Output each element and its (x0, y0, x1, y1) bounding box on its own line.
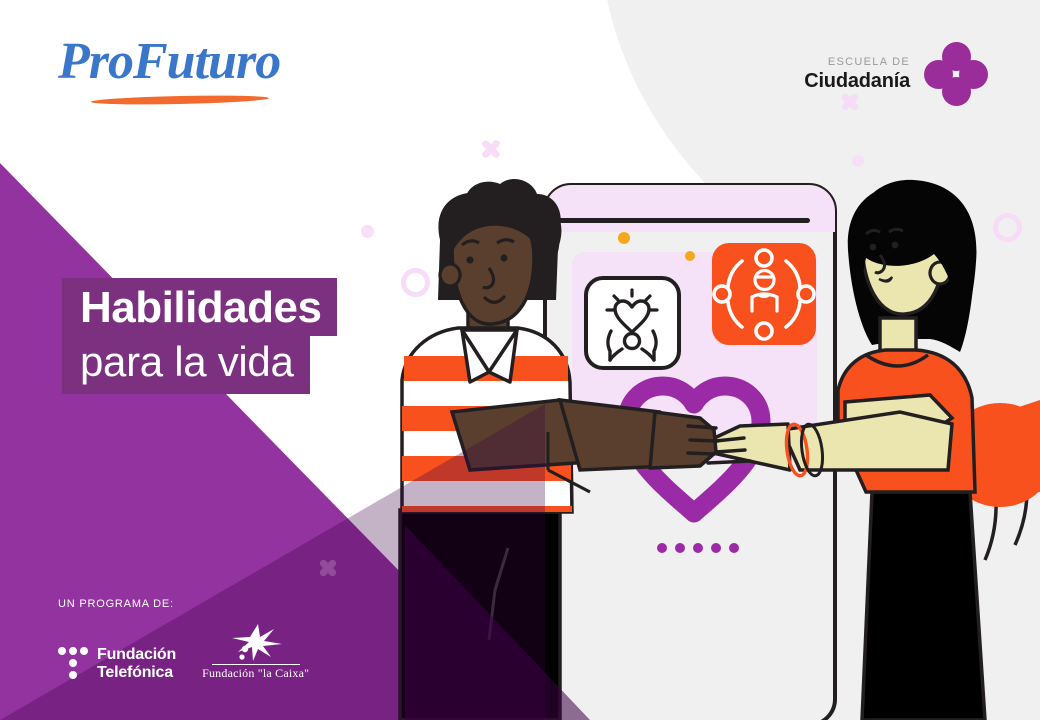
fundacion-telefonica-logo[interactable]: Fundación Telefónica (58, 646, 176, 681)
telefonica-dots-icon (58, 647, 88, 681)
telefonica-line2: Telefónica (97, 664, 176, 681)
poster-canvas: ProFuturo ESCUELA DE Ciudadanía Habilida… (0, 0, 1040, 720)
four-circle-flower-icon (924, 42, 988, 106)
escuela-logo-line2: Ciudadanía (804, 70, 910, 92)
screen-dot-1 (618, 232, 630, 244)
telefonica-logo-text: Fundación Telefónica (97, 646, 176, 681)
person-network-card (712, 243, 816, 345)
profuturo-logo[interactable]: ProFuturo (58, 36, 280, 88)
telefonica-line1: Fundación (97, 646, 176, 663)
caixa-star-icon (227, 622, 285, 662)
fundacion-la-caixa-logo[interactable]: Fundación "la Caixa" (202, 622, 309, 681)
caixa-rule (212, 664, 300, 665)
screen-dot-2 (685, 251, 695, 261)
escuela-logo-text: ESCUELA DE Ciudadanía (804, 56, 910, 92)
profuturo-logo-text: ProFuturo (58, 36, 280, 88)
page-title: Habilidades para la vida (62, 278, 337, 394)
page-title-line2: para la vida (62, 334, 310, 394)
sponsors-label: UN PROGRAMA DE: (58, 598, 309, 610)
heart-in-hands-card (586, 278, 679, 368)
page-title-line1: Habilidades (62, 278, 337, 336)
caixa-logo-text: Fundación "la Caixa" (202, 666, 309, 681)
sponsors-row: Fundación Telefónica Fundación "la Caixa… (58, 622, 309, 681)
escuela-ciudadania-logo[interactable]: ESCUELA DE Ciudadanía (804, 42, 988, 106)
sponsors-block: UN PROGRAMA DE: Fundación Telefónica (58, 598, 309, 681)
escuela-logo-line1: ESCUELA DE (804, 56, 910, 70)
